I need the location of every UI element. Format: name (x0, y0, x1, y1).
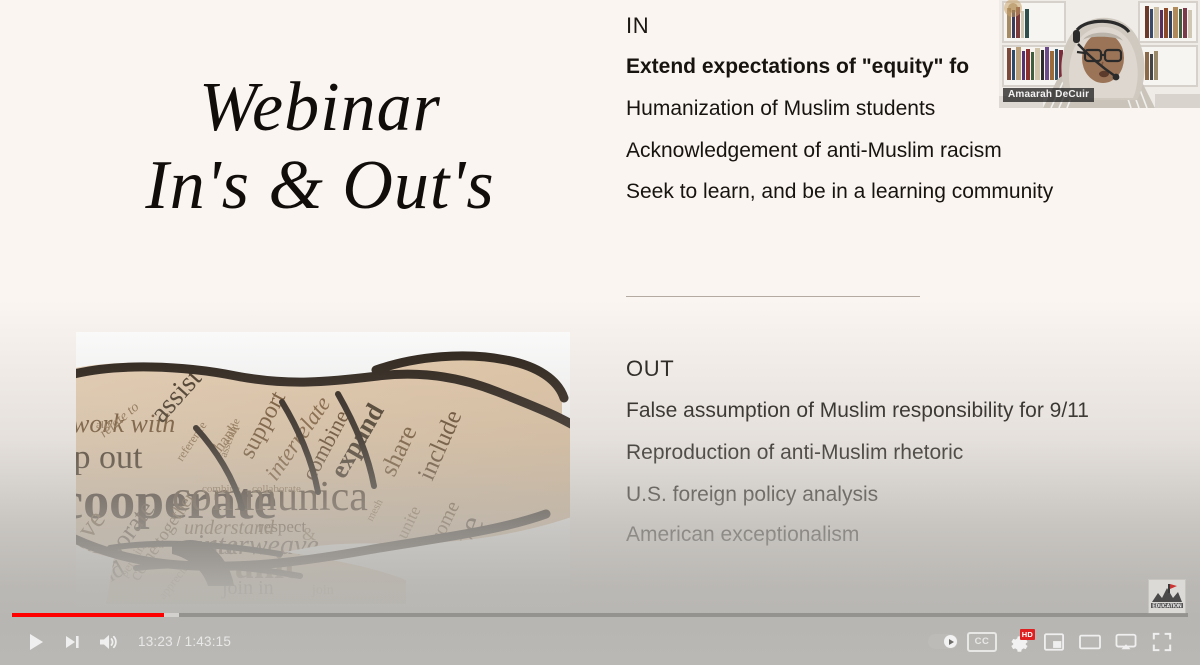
in-item-1: Extend expectations of "equity" fo (626, 55, 969, 79)
cc-icon: CC (967, 632, 997, 652)
next-video-button[interactable] (54, 624, 90, 660)
speaker-webcam-overlay: Amaarah DeCuir (999, 0, 1200, 108)
slide-title-line-1: Webinar (30, 72, 610, 144)
hd-quality-badge: HD (1020, 629, 1035, 641)
controls-row: 13:23 / 1:43:15 CC HD (0, 618, 1200, 665)
controls-left-group: 13:23 / 1:43:15 (0, 624, 239, 660)
in-section-heading: IN (626, 13, 649, 39)
in-item-3: Acknowledgement of anti-Muslim racism (626, 139, 1002, 163)
fullscreen-button[interactable] (1144, 624, 1180, 660)
time-display: 13:23 / 1:43:15 (126, 634, 239, 649)
theater-icon (1078, 632, 1102, 652)
video-player-controls: 13:23 / 1:43:15 CC HD (0, 613, 1200, 665)
miniplayer-icon (1043, 632, 1065, 652)
in-item-2: Humanization of Muslim students (626, 97, 935, 121)
cast-button[interactable] (1108, 624, 1144, 660)
fullscreen-icon (1152, 632, 1172, 652)
svg-text:join: join (311, 583, 334, 598)
svg-text:collaborate: collaborate (252, 483, 301, 495)
section-divider (626, 296, 920, 297)
education-watermark-logo: EDUCATION (1148, 579, 1186, 614)
captions-button[interactable]: CC (964, 624, 1000, 660)
autoplay-toggle[interactable] (928, 634, 958, 649)
miniplayer-button[interactable] (1036, 624, 1072, 660)
out-item-3: U.S. foreign policy analysis (626, 483, 878, 507)
svg-text:communica: communica (172, 474, 368, 520)
progress-track[interactable] (12, 613, 1188, 617)
progress-played (12, 613, 164, 617)
out-section-heading: OUT (626, 356, 674, 382)
svg-text:EDUCATION: EDUCATION (1152, 603, 1182, 609)
controls-right-group: CC HD (922, 624, 1200, 660)
out-item-4: American exceptionalism (626, 523, 859, 547)
autoplay-knob (944, 635, 957, 648)
slide-title-line-2: In's & Out's (30, 150, 610, 222)
out-item-2: Reproduction of anti-Muslim rhetoric (626, 441, 963, 465)
svg-text:&: & (302, 524, 316, 544)
in-item-4: Seek to learn, and be in a learning comm… (626, 180, 1053, 204)
volume-button[interactable] (90, 624, 126, 660)
speaker-name-label: Amaarah DeCuir (1003, 88, 1094, 102)
play-button[interactable] (18, 624, 54, 660)
settings-button[interactable]: HD (1000, 624, 1036, 660)
svg-text:respect: respect (258, 517, 306, 536)
cast-icon (1114, 632, 1138, 652)
handshake-wordcloud-image: work with lp out cooperate rge interweav… (76, 332, 570, 607)
slide-title: Webinar In's & Out's (30, 72, 610, 222)
out-item-1: False assumption of Muslim responsibilit… (626, 399, 1089, 423)
theater-mode-button[interactable] (1072, 624, 1108, 660)
video-player-stage: Webinar In's & Out's (0, 0, 1200, 665)
svg-text:lp out: lp out (76, 439, 143, 476)
